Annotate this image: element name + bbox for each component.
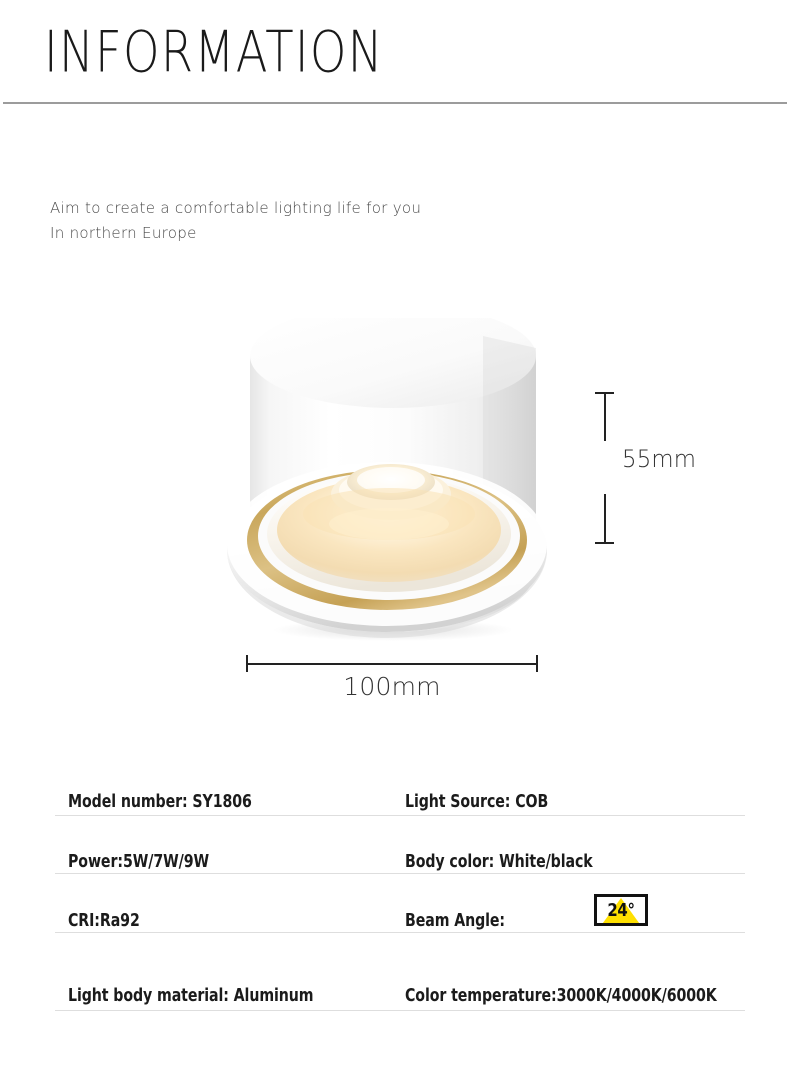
intro-line-1: Aim to create a comfortable lighting lif…: [50, 196, 421, 221]
table-row: Power:5W/7W/9W Body color: White/black: [0, 836, 790, 894]
width-label: 100mm: [246, 672, 538, 701]
spec-model-number: Model number: SY1806: [68, 792, 252, 812]
row-divider: [55, 815, 745, 816]
beam-angle-value: 24°: [599, 897, 643, 923]
spec-power: Power:5W/7W/9W: [68, 852, 209, 872]
intro-text: Aim to create a comfortable lighting lif…: [50, 196, 421, 246]
height-dimension: 55mm: [595, 392, 715, 544]
height-line-top: [604, 393, 606, 441]
table-row: Model number: SY1806 Light Source: COB: [0, 776, 790, 834]
height-line-bottom: [604, 494, 606, 543]
spec-beam-angle: Beam Angle:: [405, 911, 505, 931]
row-divider: [55, 873, 745, 874]
light-spill-core: [329, 508, 449, 540]
beam-angle-badge: 24°: [594, 894, 648, 926]
product-image: [215, 318, 575, 648]
row-divider: [55, 932, 745, 933]
downlight-illustration: [215, 318, 575, 648]
table-row: CRI:Ra92 Beam Angle:: [0, 895, 790, 953]
row-divider: [55, 1010, 745, 1011]
width-dimension: 100mm: [246, 655, 538, 707]
table-row: Light body material: Aluminum Color temp…: [0, 970, 790, 1028]
spec-light-source: Light Source: COB: [405, 792, 548, 812]
spec-cri: CRI:Ra92: [68, 911, 140, 931]
height-label: 55mm: [622, 445, 696, 473]
intro-line-2: In northern Europe: [50, 221, 421, 246]
page-title: INFORMATION: [44, 24, 384, 81]
spec-color-temperature: Color temperature:3000K/4000K/6000K: [405, 986, 717, 1006]
width-line: [247, 663, 537, 665]
height-tick-bottom: [595, 542, 614, 544]
width-tick-right: [536, 655, 538, 672]
header-divider: [3, 102, 787, 104]
spec-body-color: Body color: White/black: [405, 852, 593, 872]
spec-body-material: Light body material: Aluminum: [68, 986, 313, 1006]
